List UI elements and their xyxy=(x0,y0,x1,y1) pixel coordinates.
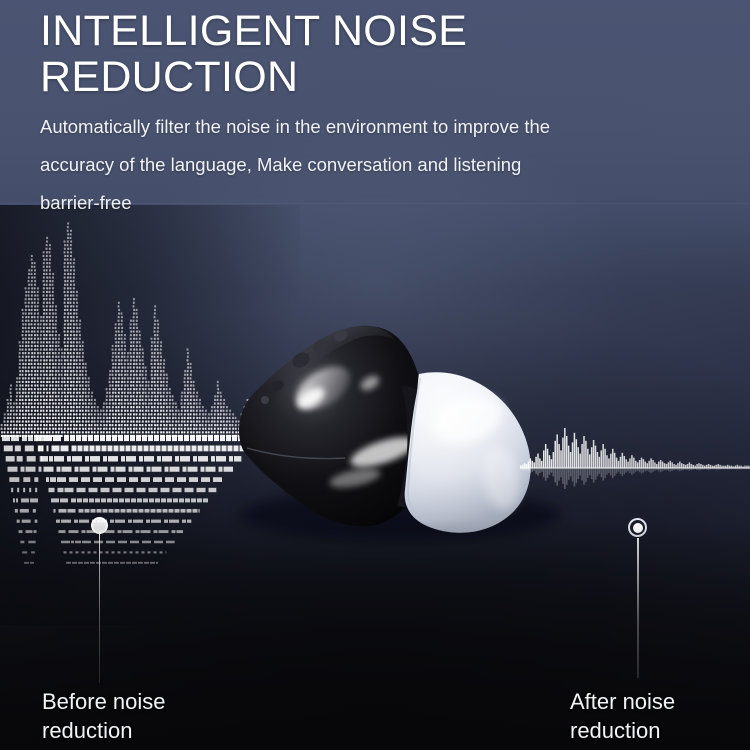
page-title: INTELLIGENT NOISEREDUCTION xyxy=(40,8,730,100)
header-block: INTELLIGENT NOISEREDUCTION Automatically… xyxy=(40,8,730,222)
page-subtitle-line-3: barrier-free xyxy=(40,192,132,213)
promo-banner: INTELLIGENT NOISEREDUCTION Automatically… xyxy=(0,0,750,750)
caption-after-noise-reduction: After noise reduction xyxy=(570,687,750,745)
page-title-line-1: INTELLIGENT NOISE xyxy=(40,7,467,55)
after-noise-waveform xyxy=(520,420,750,525)
page-subtitle-line-2: accuracy of the language, Make conversat… xyxy=(40,154,521,175)
caption-before-noise-reduction: Before noise reduction xyxy=(42,687,272,745)
page-subtitle: Automatically filter the noise in the en… xyxy=(40,108,700,222)
page-subtitle-line-1: Automatically filter the noise in the en… xyxy=(40,116,550,137)
page-title-line-2: REDUCTION xyxy=(40,53,298,101)
